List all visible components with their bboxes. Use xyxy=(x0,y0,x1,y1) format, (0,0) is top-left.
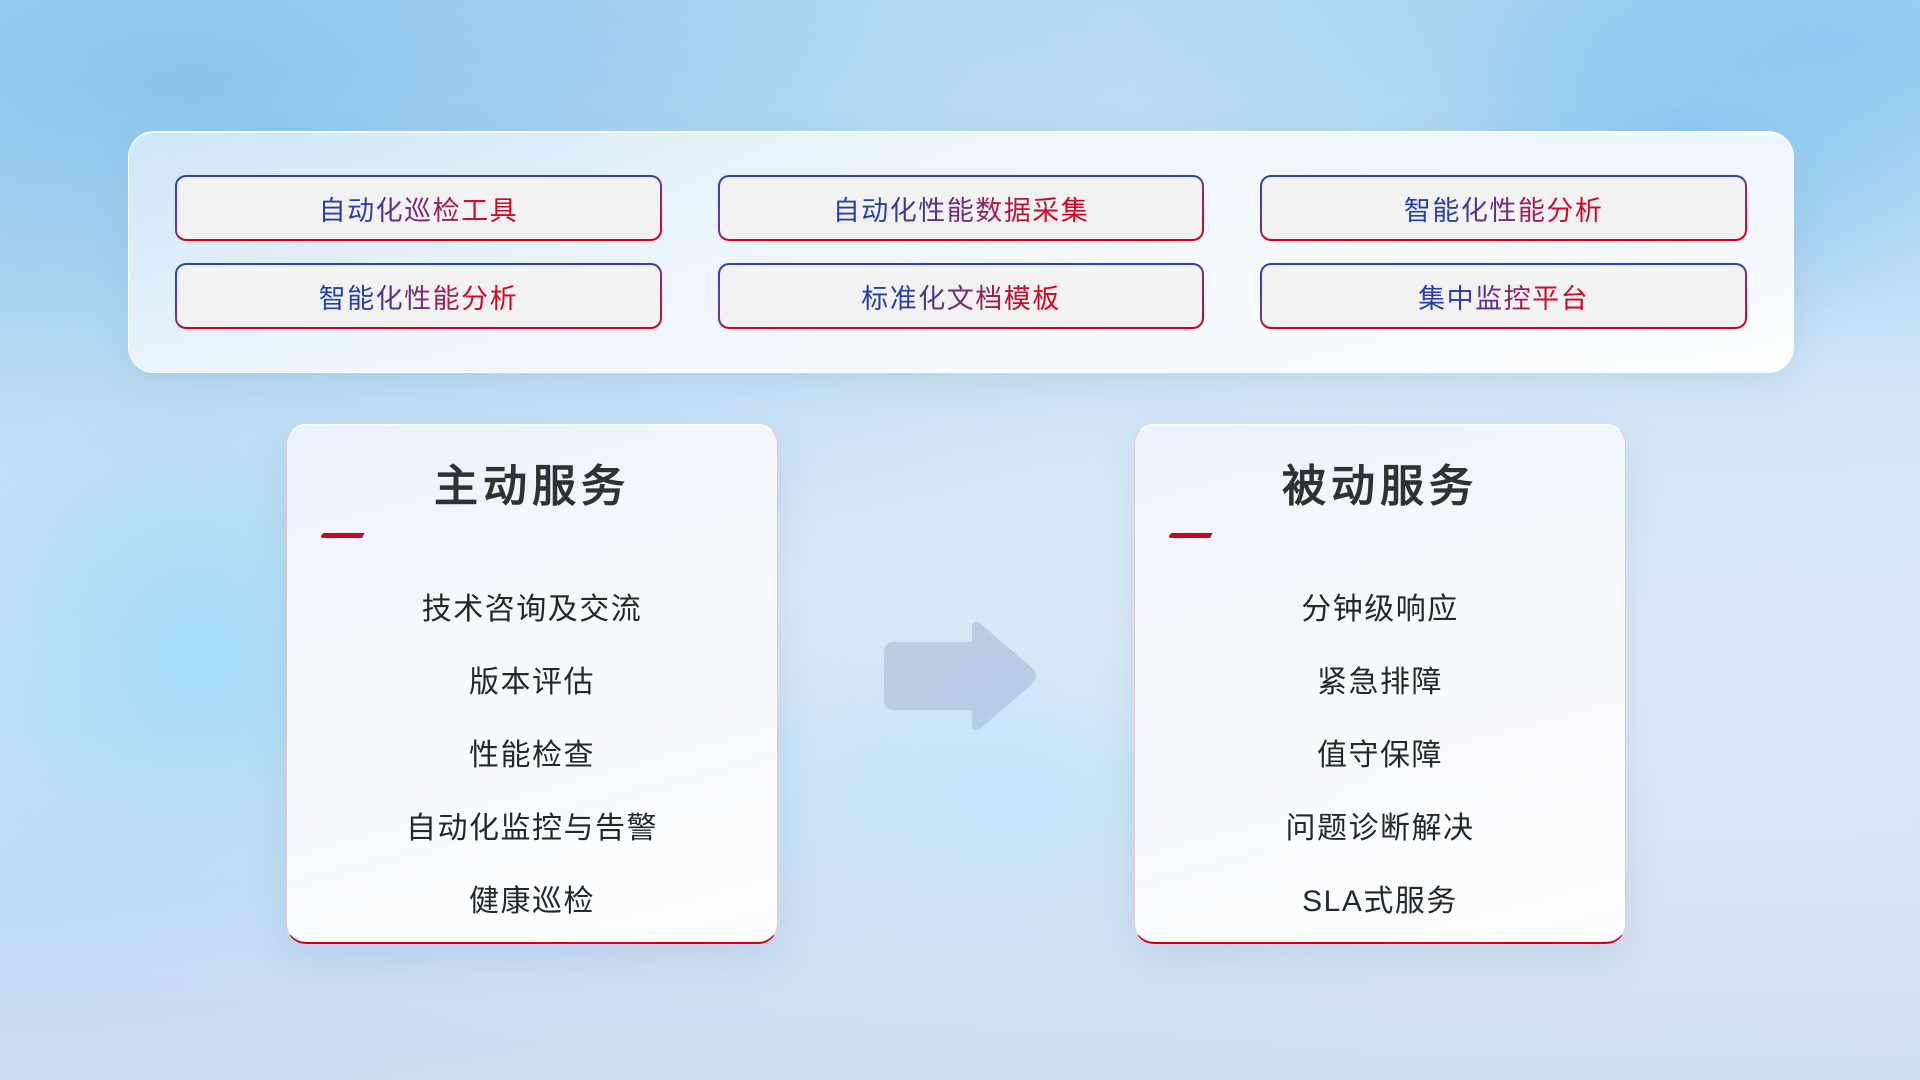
list-item: 健康巡检 xyxy=(317,862,747,935)
capability-pill-label: 智能化性能分析 xyxy=(319,277,519,316)
service-card-title: 被动服务 xyxy=(1282,461,1478,514)
list-item: SLA式服务 xyxy=(1165,862,1595,935)
capability-pill-intelligent-performance-analysis[interactable]: 智能化性能分析 xyxy=(1260,175,1747,241)
capability-pill-intelligent-performance-analysis-2[interactable]: 智能化性能分析 xyxy=(175,263,662,329)
list-item: 技术咨询及交流 xyxy=(317,570,747,643)
service-item-list: 技术咨询及交流 版本评估 性能检查 自动化监控与告警 健康巡检 xyxy=(317,570,747,935)
capability-row-2: 智能化性能分析 标准化文档模板 集中监控平台 xyxy=(175,263,1747,329)
capability-pill-label: 标准化文档模板 xyxy=(861,277,1061,316)
list-item: 分钟级响应 xyxy=(1165,570,1595,643)
capability-pill-auto-performance-data-collection[interactable]: 自动化性能数据采集 xyxy=(718,175,1205,241)
capability-row-1: 自动化巡检工具 自动化性能数据采集 智能化性能分析 xyxy=(175,175,1747,241)
service-item-list: 分钟级响应 紧急排障 值守保障 问题诊断解决 SLA式服务 xyxy=(1165,570,1595,935)
capability-pill-label: 自动化巡检工具 xyxy=(319,189,519,228)
capability-pill-label: 集中监控平台 xyxy=(1418,277,1589,316)
list-item: 版本评估 xyxy=(317,643,747,716)
list-item: 值守保障 xyxy=(1165,716,1595,789)
capability-pill-standard-doc-template[interactable]: 标准化文档模板 xyxy=(718,263,1205,329)
capability-pill-label: 智能化性能分析 xyxy=(1404,189,1604,228)
arrow-right-icon xyxy=(876,616,1040,736)
capability-pill-label: 自动化性能数据采集 xyxy=(833,189,1090,228)
capability-pill-central-monitoring-platform[interactable]: 集中监控平台 xyxy=(1260,263,1747,329)
service-card-title: 主动服务 xyxy=(434,461,630,514)
list-item: 性能检查 xyxy=(317,716,747,789)
capability-pill-auto-inspection-tool[interactable]: 自动化巡检工具 xyxy=(175,175,662,241)
service-card-proactive: 主动服务 技术咨询及交流 版本评估 性能检查 自动化监控与告警 健康巡检 xyxy=(286,424,778,944)
list-item: 问题诊断解决 xyxy=(1165,789,1595,862)
service-card-reactive: 被动服务 分钟级响应 紧急排障 值守保障 问题诊断解决 SLA式服务 xyxy=(1134,424,1626,944)
list-item: 紧急排障 xyxy=(1165,643,1595,716)
capability-panel: 自动化巡检工具 自动化性能数据采集 智能化性能分析 智能化性能分析 标准化文档模… xyxy=(128,131,1794,373)
list-item: 自动化监控与告警 xyxy=(317,789,747,862)
